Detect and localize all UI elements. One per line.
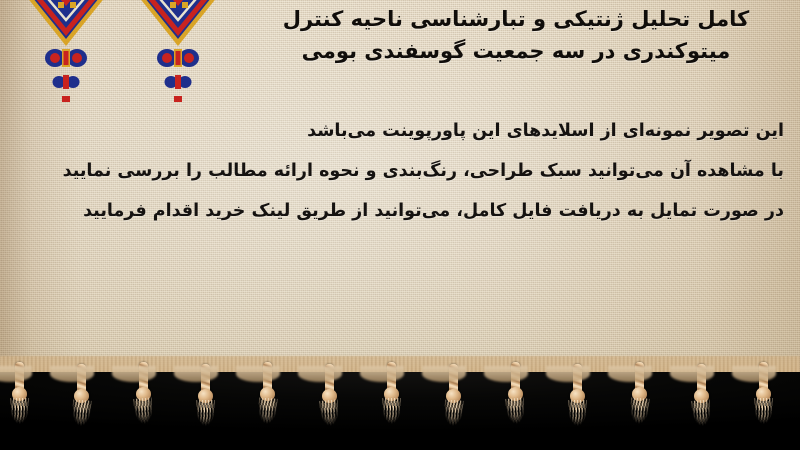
tassel-brush bbox=[196, 400, 215, 427]
tassel-brush bbox=[10, 398, 29, 425]
carpet-scallop bbox=[422, 366, 466, 382]
tassel-brush bbox=[257, 397, 278, 425]
slide-title-line-1: کامل تحلیل ژنتیکی و تبارشناسی ناحیه کنتر… bbox=[256, 4, 776, 36]
slide-body: این تصویر نمونه‌ای از اسلایدهای این پاور… bbox=[12, 112, 788, 232]
tassel-brush bbox=[754, 398, 773, 425]
tassel-brush bbox=[629, 397, 650, 425]
carpet-scallop bbox=[298, 366, 342, 382]
slide-title-line-2: میتوکندری در سه جمعیت گوسفندی بومی bbox=[256, 36, 776, 68]
slide-title: کامل تحلیل ژنتیکی و تبارشناسی ناحیه کنتر… bbox=[256, 4, 776, 68]
tassel-brush bbox=[443, 399, 464, 427]
slide-body-line-1: این تصویر نمونه‌ای از اسلایدهای این پاور… bbox=[12, 112, 788, 152]
carpet-scallop bbox=[174, 366, 218, 382]
slide-body-line-2: با مشاهده آن می‌توانید سبک طراحی، رنگ‌بن… bbox=[12, 152, 788, 192]
carpet-scallop bbox=[112, 366, 156, 382]
carpet-scallop bbox=[670, 366, 714, 382]
tassel-brush bbox=[568, 400, 587, 427]
carpet-scallop bbox=[608, 366, 652, 382]
persian-medallion-right-icon bbox=[118, 0, 238, 106]
slide-body-line-3: در صورت تمایل به دریافت فایل کامل، می‌تو… bbox=[12, 192, 788, 232]
slide-canvas: کامل تحلیل ژنتیکی و تبارشناسی ناحیه کنتر… bbox=[0, 0, 800, 450]
tassel-brush bbox=[319, 399, 340, 428]
carpet-scallop bbox=[50, 366, 94, 382]
carpet-scallop bbox=[732, 366, 776, 382]
carpet-scallop bbox=[236, 366, 280, 382]
persian-medallion-left-icon bbox=[6, 0, 126, 106]
tassel-brush bbox=[71, 399, 92, 427]
carpet-scallop bbox=[546, 366, 590, 382]
carpet-scallop bbox=[360, 366, 404, 382]
tassel-brush bbox=[691, 399, 712, 428]
carpet-scallop bbox=[484, 366, 528, 382]
tassel-brush bbox=[133, 397, 154, 426]
tassel-brush bbox=[382, 398, 401, 425]
tassel-brush bbox=[505, 397, 526, 426]
